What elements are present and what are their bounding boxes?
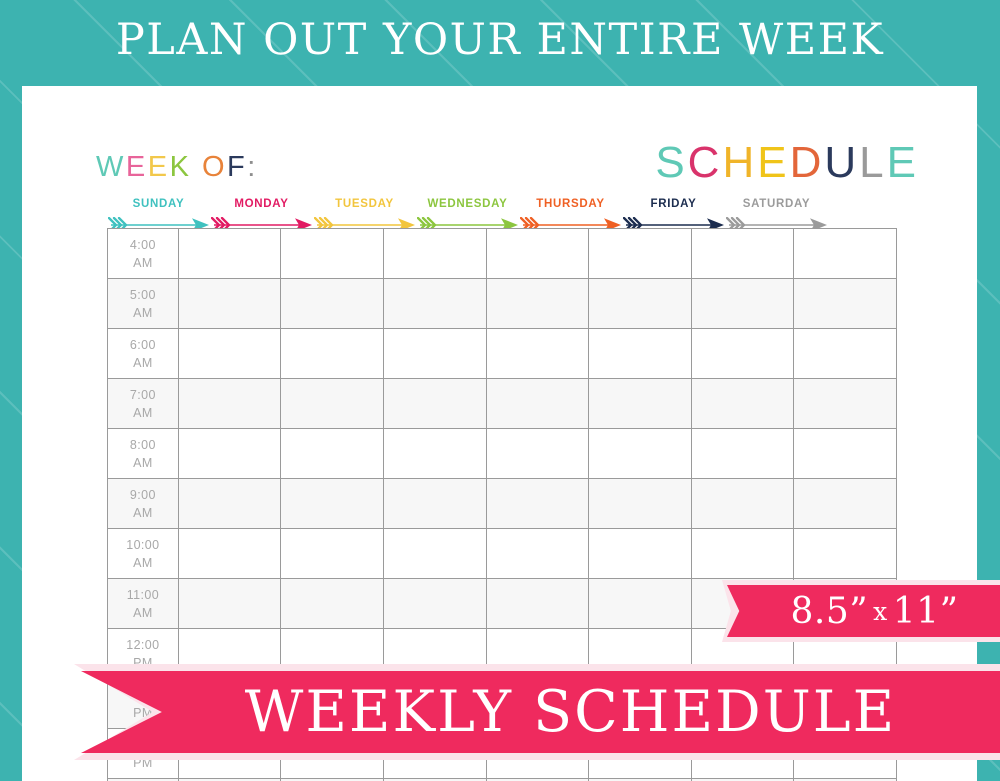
- schedule-cell-monday[interactable]: [281, 229, 384, 278]
- schedule-cell-saturday[interactable]: [794, 229, 897, 278]
- week-of-letter-1: E: [126, 151, 148, 184]
- day-label-friday: FRIDAY: [622, 198, 725, 210]
- poster-canvas: PLAN OUT YOUR ENTIRE WEEK WEEK OF: SCHED…: [0, 0, 1000, 781]
- schedule-cell-wednesday[interactable]: [487, 379, 590, 428]
- main-ribbon: WEEKLY SCHEDULE: [81, 671, 1000, 753]
- schedule-cell-monday[interactable]: [281, 329, 384, 378]
- schedule-cell-tuesday[interactable]: [384, 229, 487, 278]
- week-of-letter-0: W: [96, 151, 126, 184]
- schedule-cell-wednesday[interactable]: [487, 429, 590, 478]
- time-meridiem: AM: [133, 404, 153, 422]
- schedule-cell-sunday[interactable]: [179, 379, 282, 428]
- time-value: 4:00: [130, 236, 156, 254]
- schedule-letter-0: S: [655, 138, 687, 188]
- schedule-cell-tuesday[interactable]: [384, 479, 487, 528]
- day-label-thursday: THURSDAY: [519, 198, 622, 210]
- time-value: 8:00: [130, 436, 156, 454]
- time-label-cell: 10:00AM: [108, 529, 179, 578]
- day-label-saturday: SATURDAY: [725, 198, 828, 210]
- time-value: 5:00: [130, 286, 156, 304]
- size-badge-dimension-b: 11”: [893, 591, 959, 632]
- schedule-cell-tuesday[interactable]: [384, 529, 487, 578]
- schedule-wordmark: SCHEDULE: [655, 138, 919, 188]
- schedule-letter-6: L: [859, 138, 886, 188]
- time-value: 9:00: [130, 486, 156, 504]
- schedule-row: 4:00AM: [108, 229, 897, 279]
- week-of-letter-5: O: [202, 151, 227, 184]
- schedule-cell-sunday[interactable]: [179, 479, 282, 528]
- time-meridiem: AM: [133, 454, 153, 472]
- time-meridiem: AM: [133, 304, 153, 322]
- time-meridiem: AM: [133, 604, 153, 622]
- schedule-cell-saturday[interactable]: [794, 529, 897, 578]
- schedule-cell-monday[interactable]: [281, 279, 384, 328]
- time-value: 11:00: [127, 586, 159, 604]
- schedule-cell-friday[interactable]: [692, 329, 795, 378]
- schedule-cell-friday[interactable]: [692, 379, 795, 428]
- schedule-cell-wednesday[interactable]: [487, 229, 590, 278]
- time-value: 7:00: [130, 386, 156, 404]
- schedule-cell-sunday[interactable]: [179, 229, 282, 278]
- size-badge-dimension-a: 8.5”: [791, 591, 869, 632]
- main-ribbon-label: WEEKLY SCHEDULE: [245, 679, 897, 745]
- schedule-cell-saturday[interactable]: [794, 429, 897, 478]
- schedule-letter-1: C: [688, 138, 723, 188]
- week-of-letter-7: :: [247, 151, 258, 184]
- schedule-row: 9:00AM: [108, 479, 897, 529]
- schedule-cell-saturday[interactable]: [794, 279, 897, 328]
- schedule-letter-4: D: [790, 138, 825, 188]
- schedule-cell-sunday[interactable]: [179, 579, 282, 628]
- day-label-sunday: SUNDAY: [107, 198, 210, 210]
- schedule-cell-sunday[interactable]: [179, 279, 282, 328]
- schedule-cell-thursday[interactable]: [589, 429, 692, 478]
- time-label-cell: 5:00AM: [108, 279, 179, 328]
- schedule-cell-sunday[interactable]: [179, 429, 282, 478]
- schedule-row: 8:00AM: [108, 429, 897, 479]
- week-of-label: WEEK OF:: [96, 151, 258, 184]
- schedule-row: 7:00AM: [108, 379, 897, 429]
- schedule-letter-5: U: [824, 138, 859, 188]
- schedule-cell-thursday[interactable]: [589, 579, 692, 628]
- schedule-cell-friday[interactable]: [692, 429, 795, 478]
- time-meridiem: AM: [133, 354, 153, 372]
- time-label-cell: 6:00AM: [108, 329, 179, 378]
- week-of-letter-2: E: [148, 151, 170, 184]
- schedule-cell-wednesday[interactable]: [487, 479, 590, 528]
- schedule-cell-monday[interactable]: [281, 379, 384, 428]
- day-label-wednesday: WEDNESDAY: [416, 198, 519, 210]
- schedule-letter-3: E: [757, 138, 789, 188]
- time-label-cell: 9:00AM: [108, 479, 179, 528]
- schedule-cell-tuesday[interactable]: [384, 579, 487, 628]
- time-label-cell: 8:00AM: [108, 429, 179, 478]
- schedule-row: 10:00AM: [108, 529, 897, 579]
- week-of-letter-6: F: [227, 151, 247, 184]
- week-of-letter-3: K: [170, 151, 192, 184]
- schedule-cell-friday[interactable]: [692, 229, 795, 278]
- schedule-cell-thursday[interactable]: [589, 279, 692, 328]
- schedule-cell-wednesday[interactable]: [487, 579, 590, 628]
- schedule-cell-tuesday[interactable]: [384, 429, 487, 478]
- schedule-cell-tuesday[interactable]: [384, 279, 487, 328]
- time-value: 6:00: [130, 336, 156, 354]
- schedule-cell-saturday[interactable]: [794, 329, 897, 378]
- schedule-cell-monday[interactable]: [281, 529, 384, 578]
- day-label-monday: MONDAY: [210, 198, 313, 210]
- schedule-cell-thursday[interactable]: [589, 379, 692, 428]
- time-meridiem: AM: [133, 254, 153, 272]
- time-label-cell: 7:00AM: [108, 379, 179, 428]
- week-of-letter-4: [191, 151, 202, 184]
- schedule-cell-monday[interactable]: [281, 429, 384, 478]
- page-title: PLAN OUT YOUR ENTIRE WEEK: [0, 14, 1000, 66]
- day-label-tuesday: TUESDAY: [313, 198, 416, 210]
- schedule-cell-friday[interactable]: [692, 479, 795, 528]
- schedule-cell-sunday[interactable]: [179, 529, 282, 578]
- schedule-letter-7: E: [887, 138, 919, 188]
- schedule-cell-wednesday[interactable]: [487, 279, 590, 328]
- schedule-cell-monday[interactable]: [281, 579, 384, 628]
- schedule-cell-friday[interactable]: [692, 529, 795, 578]
- schedule-cell-monday[interactable]: [281, 479, 384, 528]
- schedule-cell-friday[interactable]: [692, 279, 795, 328]
- schedule-row: 6:00AM: [108, 329, 897, 379]
- schedule-cell-wednesday[interactable]: [487, 329, 590, 378]
- schedule-cell-thursday[interactable]: [589, 529, 692, 578]
- schedule-cell-wednesday[interactable]: [487, 529, 590, 578]
- schedule-cell-saturday[interactable]: [794, 479, 897, 528]
- time-label-cell: 4:00AM: [108, 229, 179, 278]
- schedule-cell-thursday[interactable]: [589, 329, 692, 378]
- size-badge: 8.5” x 11”: [727, 585, 1000, 637]
- schedule-cell-saturday[interactable]: [794, 379, 897, 428]
- schedule-letter-2: H: [722, 138, 757, 188]
- schedule-row: 5:00AM: [108, 279, 897, 329]
- size-badge-separator: x: [868, 597, 893, 626]
- schedule-cell-sunday[interactable]: [179, 329, 282, 378]
- time-label-cell: 11:00AM: [108, 579, 179, 628]
- schedule-cell-thursday[interactable]: [589, 479, 692, 528]
- time-value: 12:00: [126, 636, 159, 654]
- schedule-cell-tuesday[interactable]: [384, 379, 487, 428]
- schedule-cell-thursday[interactable]: [589, 229, 692, 278]
- schedule-cell-tuesday[interactable]: [384, 329, 487, 378]
- time-meridiem: AM: [133, 504, 153, 522]
- time-meridiem: AM: [133, 554, 153, 572]
- time-value: 10:00: [126, 536, 159, 554]
